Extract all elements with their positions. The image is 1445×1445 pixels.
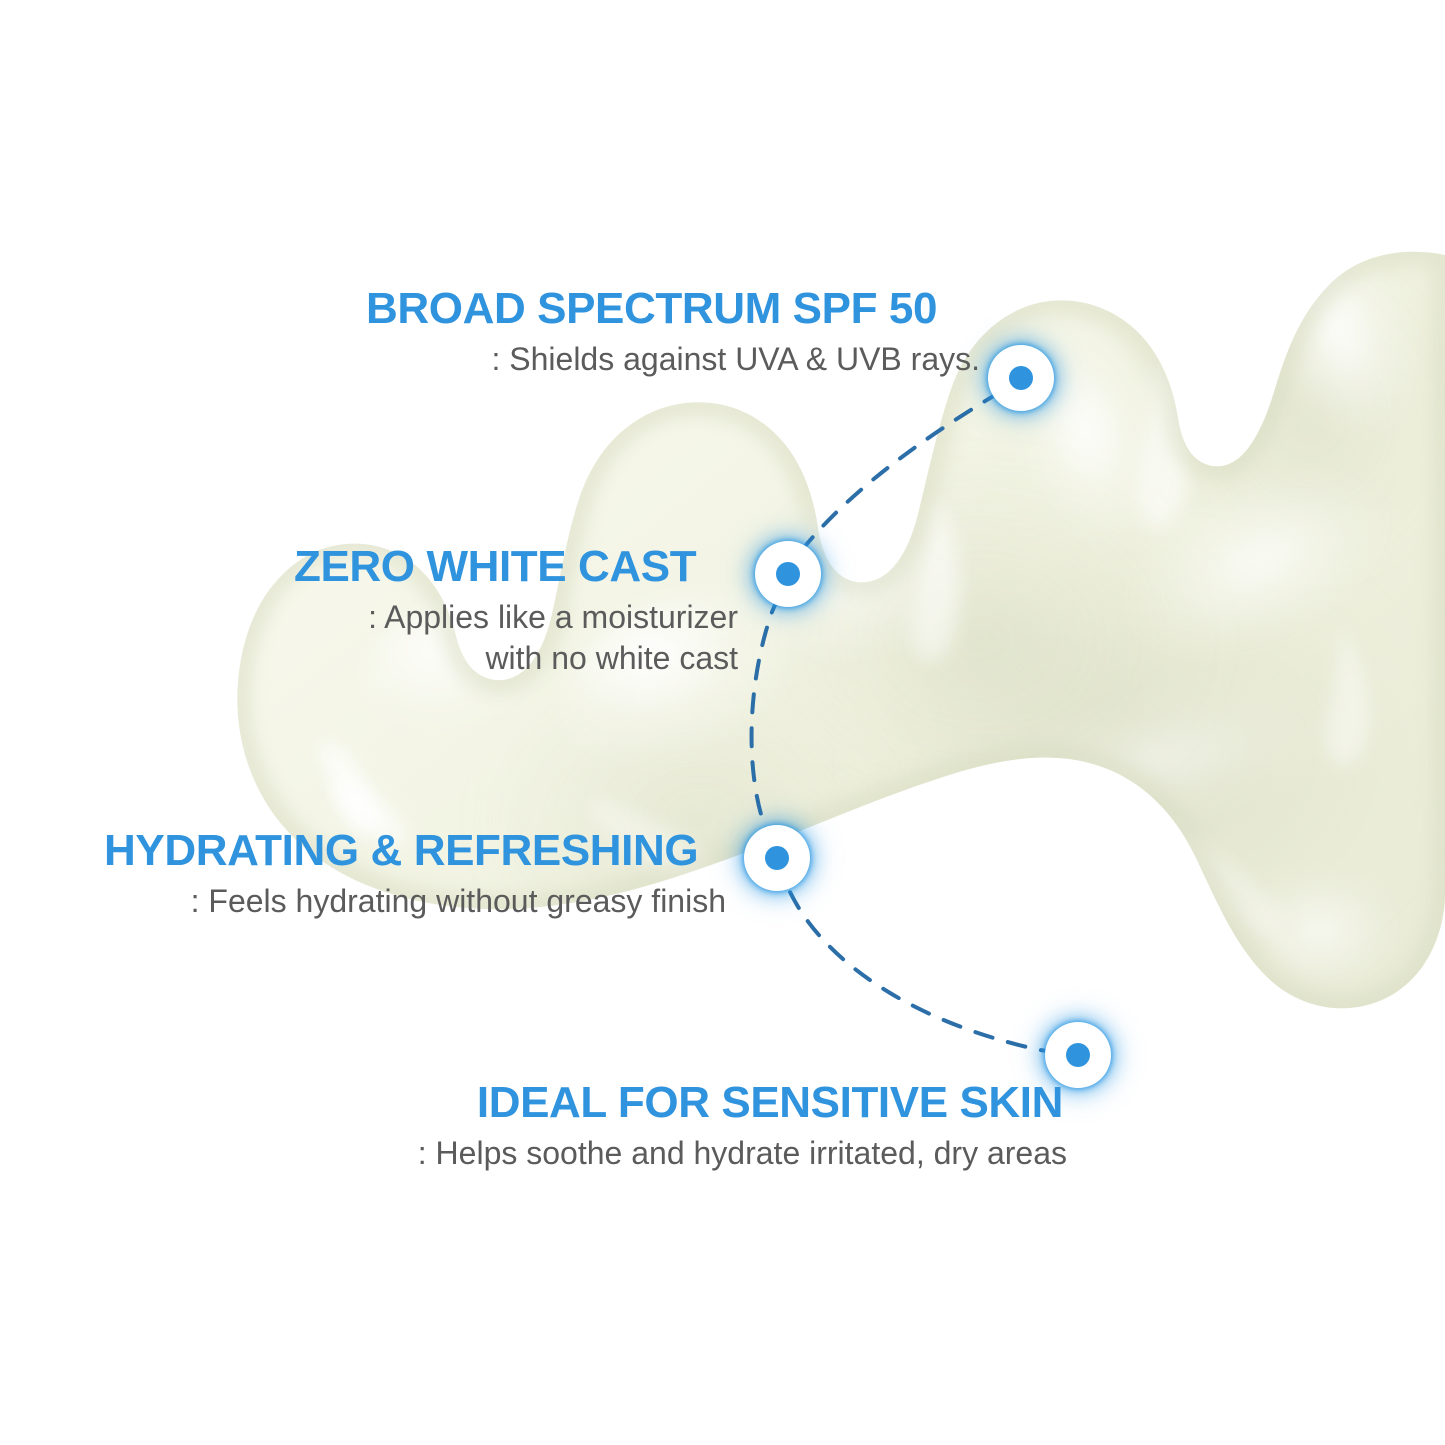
feature-description: : Feels hydrating without greasy finish — [104, 881, 726, 922]
feature-block-hydrating-and-refreshing: HYDRATING & REFRESHING : Feels hydrating… — [104, 828, 726, 922]
marker-dot-icon — [776, 562, 800, 586]
feature-marker-1[interactable] — [992, 349, 1050, 407]
dashed-connector-line — [752, 392, 1078, 1055]
feature-marker-4[interactable] — [1049, 1026, 1107, 1084]
feature-title: IDEAL FOR SENSITIVE SKIN — [355, 1080, 1067, 1127]
feature-title: BROAD SPECTRUM SPF 50 — [366, 286, 986, 333]
feature-block-zero-white-cast: ZERO WHITE CAST : Applies like a moistur… — [294, 544, 738, 679]
cream-body — [0, 0, 1445, 1445]
connector-path — [0, 0, 1445, 1445]
infographic-page: BROAD SPECTRUM SPF 50 : Shields against … — [0, 0, 1445, 1445]
feature-description: : Applies like a moisturizer with no whi… — [294, 597, 738, 679]
feature-description: : Helps soothe and hydrate irritated, dr… — [355, 1133, 1067, 1174]
product-image-layer — [0, 0, 1445, 1445]
feature-description: : Shields against UVA & UVB rays. — [366, 339, 986, 380]
marker-dot-icon — [1009, 366, 1033, 390]
marker-dot-icon — [765, 846, 789, 870]
sunscreen-cream-swatch — [0, 0, 1445, 1445]
marker-dot-icon — [1066, 1043, 1090, 1067]
feature-block-broad-spectrum-spf-50: BROAD SPECTRUM SPF 50 : Shields against … — [366, 286, 986, 380]
feature-title: HYDRATING & REFRESHING — [104, 828, 726, 875]
feature-title: ZERO WHITE CAST — [294, 544, 738, 591]
feature-block-ideal-for-sensitive-skin: IDEAL FOR SENSITIVE SKIN : Helps soothe … — [355, 1080, 1067, 1174]
feature-marker-2[interactable] — [759, 545, 817, 603]
feature-marker-3[interactable] — [748, 829, 806, 887]
